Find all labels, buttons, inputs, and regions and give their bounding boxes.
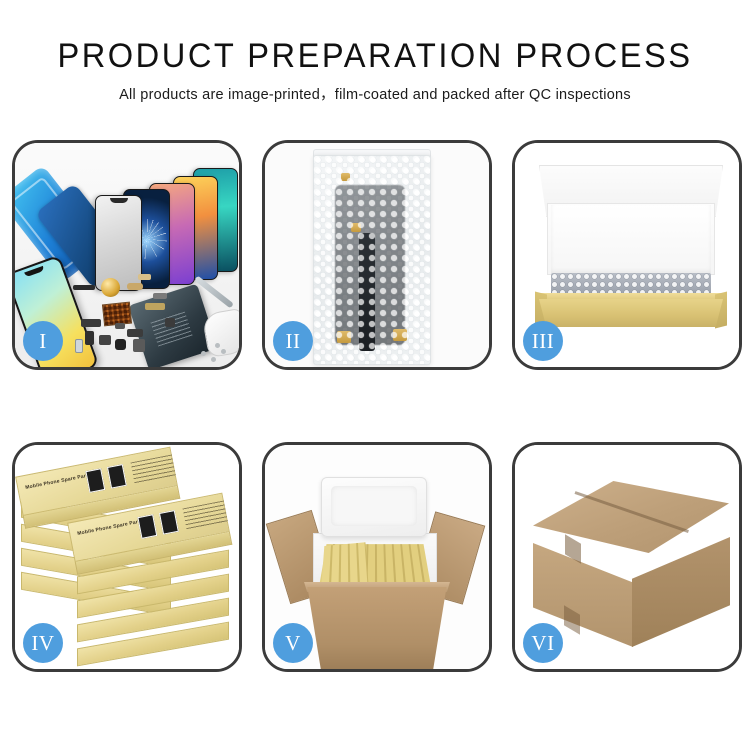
spare-part-shape [165,318,175,327]
screw-shape [221,349,226,354]
process-step-grid: I II [12,140,742,672]
step-badge-6: VI [523,623,563,663]
spare-part-shape [138,274,151,280]
spare-part-shape [133,339,145,352]
step-badge-1: I [23,321,63,361]
spare-part-shape [99,335,111,345]
spare-part-shape [81,319,101,327]
spare-part-shape [145,303,165,310]
process-step-panel-4: Mobile Phone Spare Parts Mobile Phone Sp… [12,442,242,672]
spare-part-shape [115,323,125,329]
spare-part-shape [127,283,143,290]
foam-cooler-lid-shape [321,477,427,537]
step-badge-3: III [523,321,563,361]
step-badge-2: II [273,321,313,361]
carton-body-shape [303,587,451,669]
process-step-panel-6: VI [512,442,742,672]
process-step-panel-3: III [512,140,742,370]
carton-side-face-shape [632,537,730,647]
connector-pad-shape [351,223,361,232]
mailer-front-wall-shape [539,299,723,327]
spare-part-shape [153,293,167,299]
screw-shape [211,357,216,362]
product-preparation-infographic: PRODUCT PREPARATION PROCESS All products… [0,0,750,750]
white-foam-sheet-shape [551,205,711,273]
phone-screen-white [95,195,142,291]
screw-shape [201,351,206,356]
step-badge-4: IV [23,623,63,663]
connector-pad-shape [337,331,351,343]
spare-part-shape [75,339,83,353]
process-step-panel-1: I [12,140,242,370]
screw-shape [215,343,220,348]
vibration-motor-shape [101,278,120,297]
page-title: PRODUCT PREPARATION PROCESS [15,36,735,76]
carton-top-face-shape [533,481,729,553]
connector-pad-shape [393,329,407,341]
spare-part-shape [73,285,95,290]
spare-part-shape [115,339,126,350]
spare-part-shape [127,329,143,337]
page-subtitle: All products are image-printed，film-coat… [0,85,750,105]
flex-cable-shape [359,233,375,351]
connector-pad-shape [341,173,350,181]
step-badge-5: V [273,623,313,663]
spare-part-shape [85,331,94,345]
header: PRODUCT PREPARATION PROCESS All products… [0,0,750,105]
process-step-panel-5: V [262,442,492,672]
process-step-panel-2: II [262,140,492,370]
